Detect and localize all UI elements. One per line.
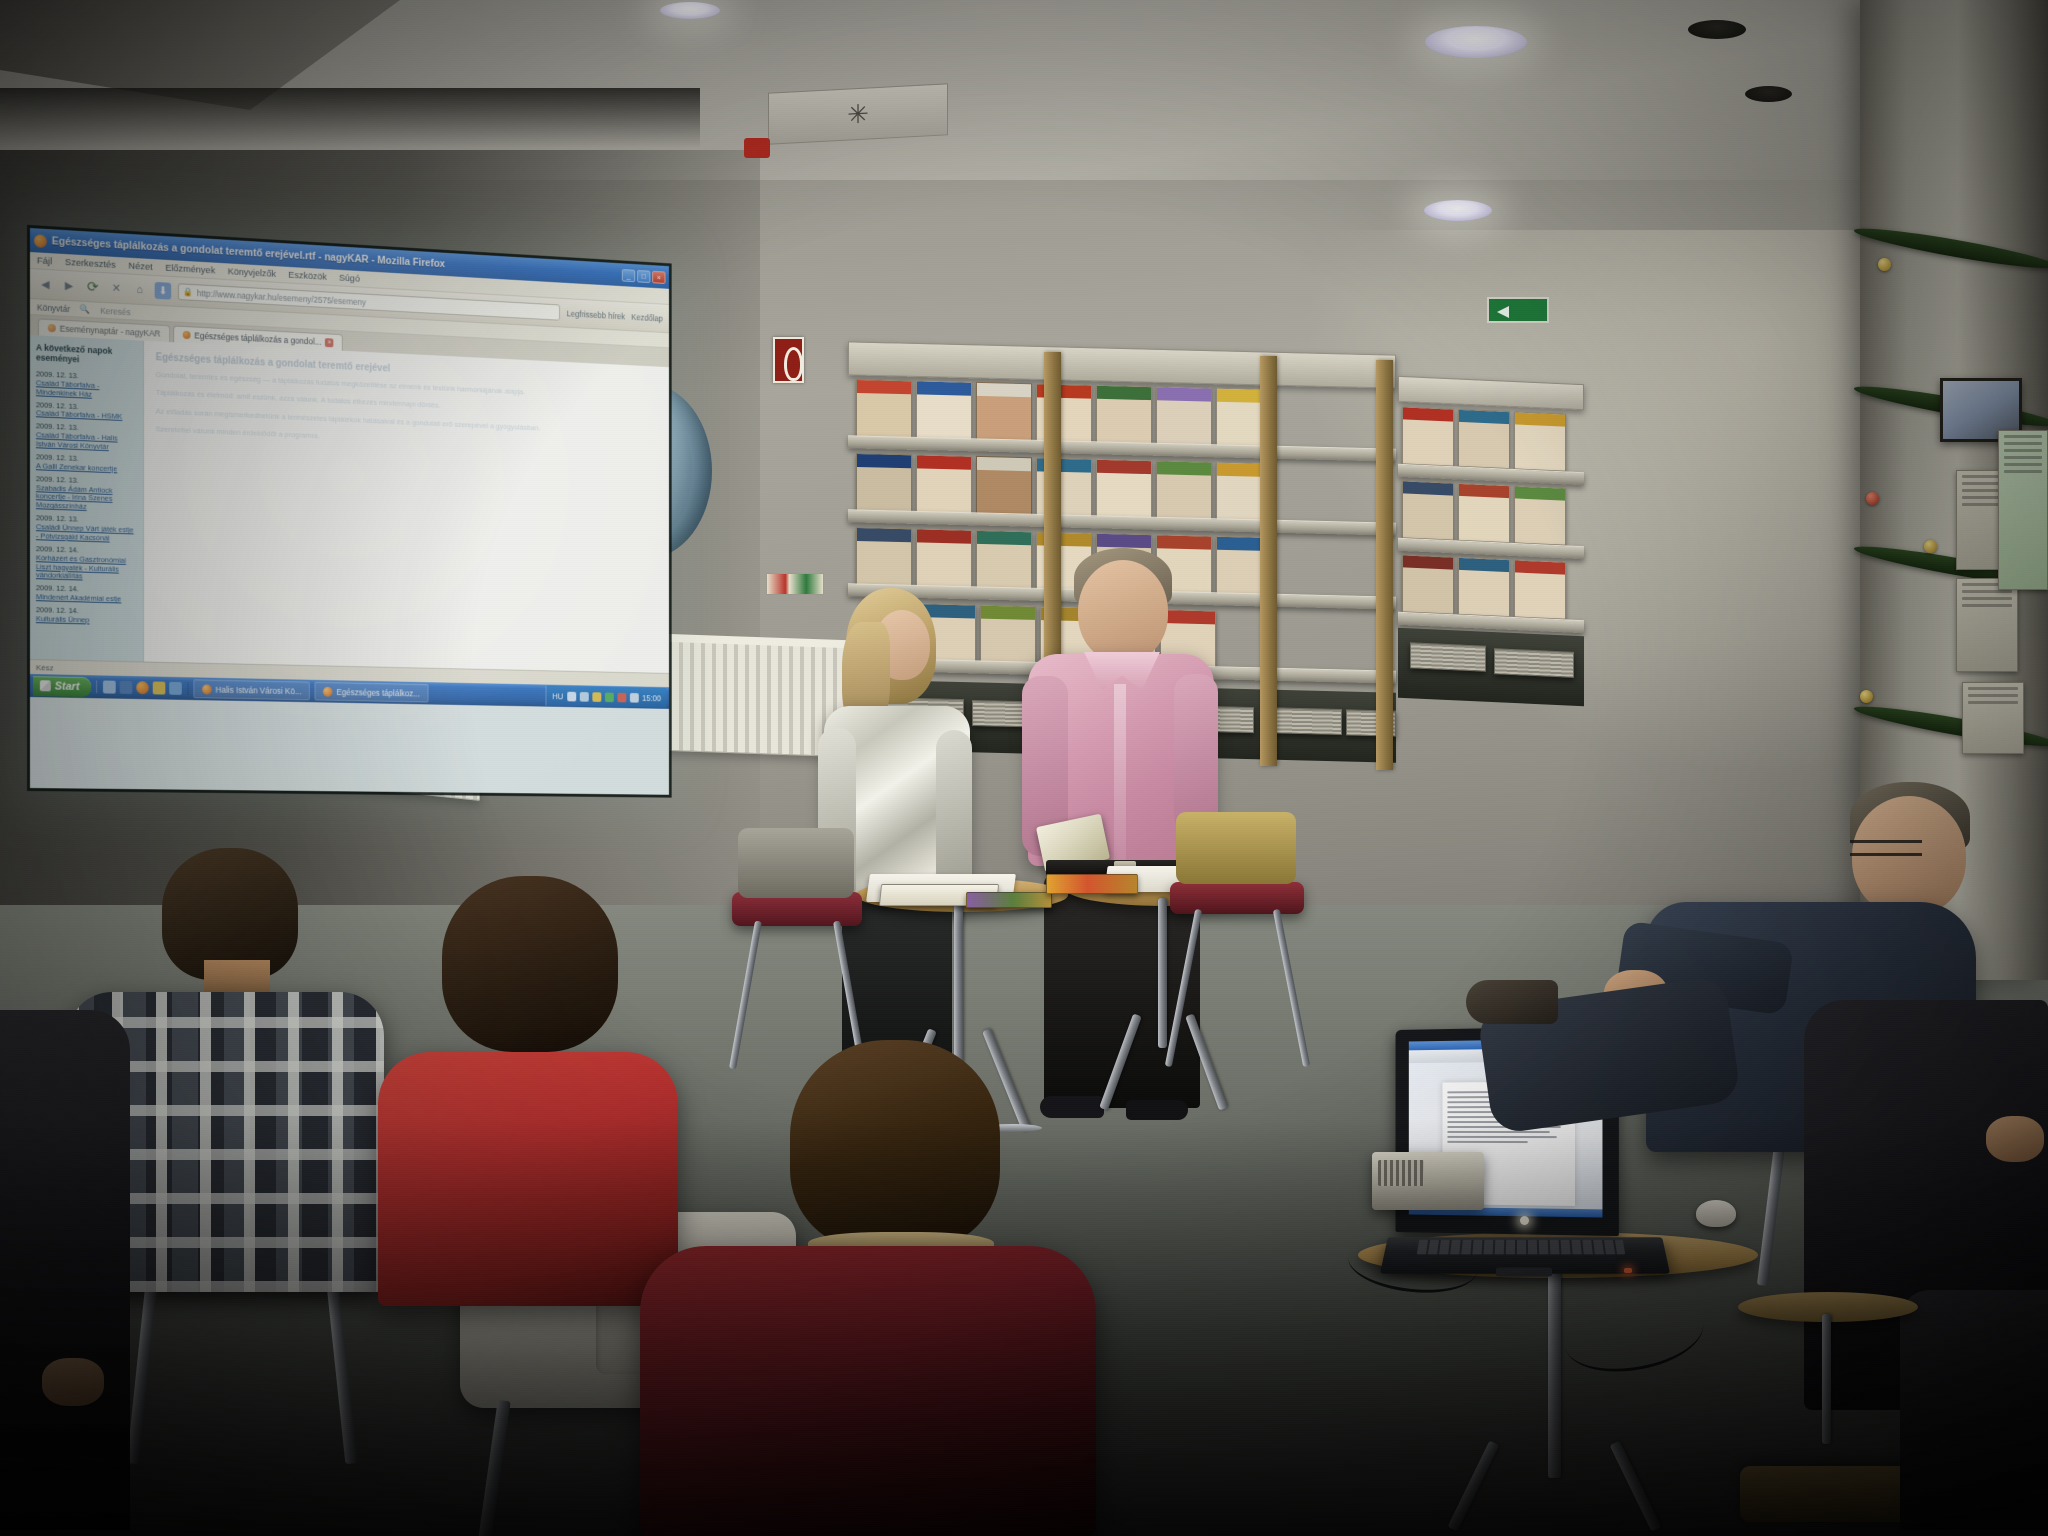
bookmark-library[interactable]: Könyvtár [37, 302, 70, 314]
newspaper-stack[interactable] [1410, 642, 1486, 671]
smoke-detector [744, 138, 770, 158]
magazine[interactable] [976, 456, 1032, 519]
newspaper-stack[interactable] [1494, 648, 1574, 678]
chair-back [738, 828, 854, 898]
event-title[interactable]: Család Táborfalva - HSMK [36, 410, 137, 423]
magazine[interactable] [856, 453, 912, 516]
list-item[interactable]: 2009. 12. 13. Család Táborfalva - Minden… [36, 370, 137, 401]
floor-shadow-gradient [0, 1120, 2048, 1536]
notice-line [2004, 456, 2042, 459]
notice-board-4[interactable] [1998, 430, 2048, 590]
menu-file[interactable]: Fájl [37, 255, 52, 267]
shelf-row [1402, 480, 1566, 545]
menu-edit[interactable]: Szerkesztés [65, 257, 116, 271]
ceiling-edge-shadow [0, 88, 700, 148]
close-icon[interactable]: × [325, 338, 333, 347]
menu-bookmarks[interactable]: Könyvjelzők [228, 266, 276, 280]
magazine[interactable] [1458, 409, 1510, 469]
menu-help[interactable]: Súgó [339, 272, 360, 284]
thunderbird-icon[interactable] [169, 682, 182, 695]
table-leg [1099, 1013, 1142, 1110]
ceiling-vent-1 [1688, 20, 1746, 39]
chair-right-of-table[interactable] [1162, 848, 1312, 1088]
shelf-post [1376, 360, 1393, 770]
events-heading: A következő napok eseményei [36, 342, 137, 368]
downlight-3 [660, 2, 720, 19]
magazine[interactable] [916, 454, 972, 517]
tab-favicon-icon [183, 331, 191, 339]
search-input[interactable]: Keresés [100, 305, 130, 317]
document-area: Egészséges táplálkozás a gondolat teremt… [144, 341, 669, 673]
exit-sign [1487, 297, 1549, 323]
magazine[interactable] [1458, 557, 1510, 617]
ornament-red-1 [1866, 492, 1879, 505]
close-button[interactable]: × [652, 270, 665, 283]
grille-star-icon: ✳ [847, 100, 869, 127]
start-button[interactable]: Start [33, 676, 91, 697]
list-item[interactable]: 2009. 12. 13. Családi Ünnep Várt játék e… [36, 514, 137, 544]
downlight-1 [1425, 26, 1527, 58]
event-title[interactable]: Mindenért Akadémiai estje [36, 593, 137, 605]
firefox-icon [34, 234, 47, 248]
magazine[interactable] [1156, 460, 1212, 523]
volume-icon[interactable] [580, 692, 589, 702]
firefox-icon[interactable] [136, 681, 149, 694]
explorer-icon[interactable] [153, 681, 166, 694]
notice-line [2004, 470, 2042, 473]
magazine[interactable] [916, 380, 972, 443]
chair-leg [1165, 909, 1202, 1067]
show-desktop-icon[interactable] [103, 680, 116, 693]
magazine[interactable] [856, 527, 912, 590]
page-content: A következő napok eseményei 2009. 12. 13… [30, 335, 669, 673]
bookmark-home[interactable]: Kezdőlap [631, 312, 662, 323]
ornament-gold-3 [1860, 690, 1873, 703]
event-title[interactable]: Kórházért és Gasztronómiai Liszt hagyaté… [36, 554, 137, 584]
taskbar-item-nutrition[interactable]: Egészséges táplálkoz... [315, 682, 428, 703]
magazine[interactable] [856, 379, 912, 442]
head [1078, 560, 1168, 662]
taskbar-item-label: Egészséges táplálkoz... [336, 687, 419, 698]
quick-launch-bar [96, 680, 188, 695]
maximize-button[interactable]: □ [637, 269, 650, 282]
hearing-loop-sign [766, 573, 824, 595]
notice-board-2[interactable] [1956, 578, 2018, 672]
stop-icon[interactable]: ✕ [108, 279, 125, 297]
book-stack[interactable] [966, 892, 1052, 908]
taskbar-clock[interactable]: 15:00 [642, 693, 661, 703]
menu-history[interactable]: Előzmények [165, 262, 215, 276]
taskbar-item-label: Halis István Városi Kö... [216, 684, 302, 695]
list-item[interactable]: 2009. 12. 13. Család Táborfalva - HSMK [36, 401, 137, 423]
minimize-button[interactable]: _ [622, 269, 635, 282]
list-item[interactable]: 2009. 12. 14. Mindenért Akadémiai estje [36, 585, 137, 605]
event-title[interactable]: Család Táborfalva - Mindenkinek Ház [36, 379, 137, 401]
download-icon[interactable]: ⬇ [155, 282, 171, 300]
search-icon[interactable]: 🔍 [80, 304, 90, 315]
shelf-row [1402, 406, 1566, 471]
notice-line [1962, 604, 2012, 607]
notice-line [1968, 701, 2018, 704]
window-controls: _ □ × [622, 269, 666, 284]
firefox-icon [323, 686, 332, 696]
messenger-icon[interactable] [605, 692, 614, 702]
status-text: Kész [36, 663, 54, 672]
network-icon[interactable] [567, 691, 576, 701]
notice-line [2004, 442, 2042, 445]
magazine[interactable] [1458, 483, 1510, 543]
chair-leg [1273, 909, 1310, 1067]
magazine[interactable] [1156, 386, 1212, 449]
ornament-gold-2 [1924, 540, 1937, 553]
events-sidebar: A következő napok eseményei 2009. 12. 13… [30, 335, 144, 662]
list-item[interactable]: 2009. 12. 13. Szabadis Ádám Antiock konc… [36, 475, 137, 514]
notice-line [1968, 694, 2018, 697]
list-item[interactable]: 2009. 12. 14. Kórházért és Gasztronómiai… [36, 545, 137, 583]
list-item[interactable]: 2009. 12. 13. A Galli Zenekar koncertje [36, 453, 137, 475]
projection-screen: Egészséges táplálkozás a gondolat teremt… [30, 228, 669, 795]
magazine[interactable] [1096, 459, 1152, 522]
magazine[interactable] [1096, 385, 1152, 448]
event-title[interactable]: Családi Ünnep Várt játék estje - Pótvizs… [36, 523, 137, 544]
shirt-placket [1114, 684, 1126, 860]
url-text: http://www.nagykar.hu/esemeny/2575/eseme… [197, 288, 366, 307]
chair-back [1176, 812, 1296, 884]
ceiling-vent-2 [1745, 86, 1792, 102]
magazine[interactable] [1402, 480, 1454, 540]
shelf-top-board [1398, 376, 1584, 410]
magazine[interactable] [1514, 559, 1566, 619]
reload-icon[interactable]: ⟳ [84, 278, 101, 296]
event-title[interactable]: Család Táborfalva - Halis István Városi … [36, 431, 137, 453]
magazine[interactable] [916, 528, 972, 591]
notice-line [2004, 463, 2042, 466]
library-presentation-scene: ✳ Egészséges táplálkozás a gondolat tere… [0, 0, 2048, 1536]
head [1852, 796, 1966, 916]
start-label: Start [55, 680, 80, 692]
magazine[interactable] [976, 382, 1032, 445]
back-arrow-icon[interactable]: ◀ [37, 275, 54, 293]
event-title[interactable]: Szabadis Ádám Antiock koncertje - Irina … [36, 484, 137, 514]
notice-board-3[interactable] [1962, 682, 2024, 754]
notice-line [2004, 435, 2042, 438]
forward-arrow-icon[interactable]: ▶ [61, 277, 78, 295]
projected-firefox-window: Egészséges táplálkozás a gondolat teremt… [30, 228, 669, 795]
ornament-gold-1 [1878, 258, 1891, 271]
notice-line [1962, 590, 2012, 593]
event-title[interactable]: A Galli Zenekar koncertje [36, 462, 137, 475]
magazine[interactable] [1514, 411, 1566, 471]
home-icon[interactable]: ⌂ [131, 281, 148, 299]
magazine[interactable] [1514, 485, 1566, 545]
event-title[interactable]: Kulturális Ünnep [36, 615, 137, 626]
notice-line [1968, 687, 2018, 690]
shoe [1466, 980, 1558, 1024]
magazine-rack-right-extension [1398, 380, 1588, 800]
menu-view[interactable]: Nézet [128, 260, 152, 272]
chair-seat [1170, 882, 1304, 914]
system-tray: HU 15:00 [546, 686, 666, 708]
shelf-post [1260, 356, 1277, 766]
arm-right-gesturing [1174, 674, 1218, 834]
notice-line [2004, 449, 2042, 452]
notice-line [1962, 597, 2012, 600]
eyeglasses [1850, 840, 1922, 856]
downlight-2 [1424, 200, 1492, 221]
magazine[interactable] [1402, 554, 1454, 614]
tab-favicon-icon [48, 324, 56, 332]
tray-locale[interactable]: HU [552, 691, 563, 701]
media-player-icon[interactable] [120, 681, 133, 694]
bookmark-latest-news[interactable]: Legfrissebb hírek [567, 308, 625, 321]
battery-icon[interactable] [630, 693, 639, 703]
list-item[interactable]: 2009. 12. 14. Kulturális Ünnep [36, 606, 137, 626]
update-icon[interactable] [617, 692, 626, 702]
firefox-icon [202, 684, 212, 694]
menu-tools[interactable]: Eszközök [288, 269, 326, 282]
windows-flag-icon [40, 680, 51, 691]
hair [442, 876, 618, 1052]
lock-icon: 🔒 [183, 286, 193, 297]
air-grille: ✳ [768, 83, 948, 144]
magazine[interactable] [1402, 406, 1454, 466]
list-item[interactable]: 2009. 12. 13. Család Táborfalva - Halis … [36, 423, 137, 454]
shelf-row [1402, 554, 1566, 619]
fire-extinguisher-sign [773, 337, 804, 383]
colored-books[interactable] [1046, 874, 1138, 894]
antivirus-icon[interactable] [592, 692, 601, 702]
taskbar-item-library[interactable]: Halis István Városi Kö... [193, 679, 310, 700]
